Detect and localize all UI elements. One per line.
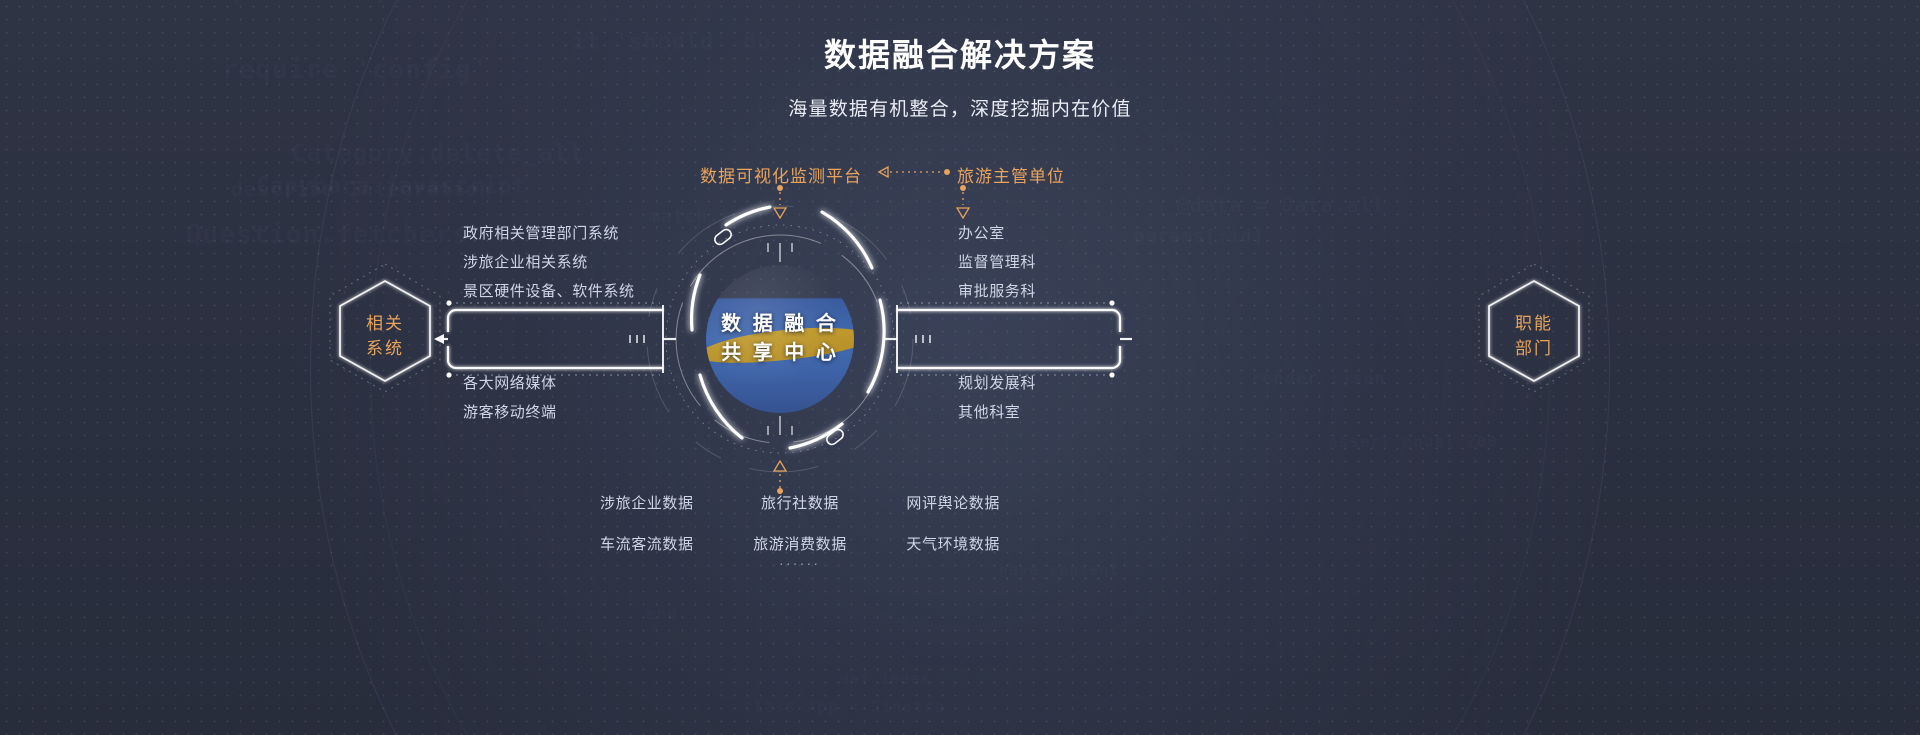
tag-row: 涉旅企业数据 旅行社数据 网评舆论数据 <box>600 492 1000 513</box>
left-sources-bottom-list: 各大网络媒体 游客移动终端 <box>463 376 557 434</box>
right-bus-upper-branch <box>897 310 1120 332</box>
list-item: 游客移动终端 <box>463 405 557 420</box>
viz-drop-triangle <box>774 208 786 218</box>
node-functional-departments[interactable]: 职能 部门 <box>1481 278 1587 396</box>
node-functional-departments-label: 职能 部门 <box>1481 278 1587 396</box>
bottom-orange-connector <box>774 461 786 494</box>
node-related-systems-label: 相关 系统 <box>332 278 438 396</box>
center-hub-line2: 共 享 中 心 <box>706 339 854 368</box>
node-related-systems-line2: 系统 <box>366 337 404 362</box>
ring-pod-upper-left <box>713 228 733 247</box>
center-hub-label: 数 据 融 合 共 享 中 心 <box>706 310 854 368</box>
right-departments-bottom-list: 规划发展科 其他科室 <box>958 376 1036 434</box>
top-left-arrowhead <box>879 167 888 177</box>
right-bus-ticks <box>916 335 930 343</box>
data-tag: 旅游消费数据 <box>753 533 847 554</box>
data-tag: 天气环境数据 <box>906 533 1000 554</box>
list-item: 其他科室 <box>958 405 1036 420</box>
list-item: 监督管理科 <box>958 255 1036 270</box>
node-related-systems[interactable]: 相关 系统 <box>332 278 438 396</box>
page-title: 数据融合解决方案 <box>0 36 1920 74</box>
center-hub-line1: 数 据 融 合 <box>706 310 854 339</box>
ring-stem-top <box>768 243 792 262</box>
list-item: 政府相关管理部门系统 <box>463 226 635 241</box>
data-tag: 涉旅企业数据 <box>600 492 694 513</box>
list-item: 景区硬件设备、软件系统 <box>463 284 635 299</box>
node-functional-departments-line2: 部门 <box>1515 337 1553 362</box>
node-functional-departments-line1: 职能 <box>1515 312 1553 337</box>
left-bus-ticks <box>630 335 644 343</box>
left-sources-top-list: 政府相关管理部门系统 涉旅企业相关系统 景区硬件设备、软件系统 <box>463 226 635 313</box>
center-hub[interactable]: 数 据 融 合 共 享 中 心 <box>706 265 854 413</box>
label-governing-unit[interactable]: 旅游主管单位 <box>957 162 1065 187</box>
list-item: 涉旅企业相关系统 <box>463 255 635 270</box>
node-related-systems-line1: 相关 <box>366 312 404 337</box>
ring-pod-lower-right <box>825 428 845 447</box>
org-drop-triangle <box>957 208 969 218</box>
data-tag: 网评舆论数据 <box>906 492 1000 513</box>
right-feed-dot-bottom <box>1109 372 1114 377</box>
bottom-up-triangle <box>774 461 786 471</box>
list-item: 办公室 <box>958 226 1036 241</box>
right-bus-lower-branch <box>897 346 1120 368</box>
ring-arc-right-lower <box>868 300 884 392</box>
list-item: 规划发展科 <box>958 376 1036 391</box>
ring-arc-left-upper <box>692 275 700 330</box>
data-tag: 旅行社数据 <box>761 492 839 513</box>
data-tag: 车流客流数据 <box>600 533 694 554</box>
left-feed-dot-bottom <box>446 372 451 377</box>
label-visualization-platform[interactable]: 数据可视化监测平台 <box>700 162 862 187</box>
page-subtitle: 海量数据有机整合，深度挖掘内在价值 <box>0 94 1920 121</box>
ring-arc-top-left <box>726 207 770 225</box>
ring-arc-bottom-right <box>790 424 842 448</box>
left-bus-upper-branch <box>448 310 663 332</box>
top-right-dot <box>944 169 950 175</box>
list-item: 各大网络媒体 <box>463 376 557 391</box>
ring-arc-top-right <box>822 212 872 268</box>
right-feed-dot-top <box>1109 300 1114 305</box>
bottom-ellipsis: ...... <box>600 552 1000 568</box>
tag-row: 车流客流数据 旅游消费数据 天气环境数据 <box>600 533 1000 554</box>
left-bus-lower-branch <box>448 346 663 368</box>
ring-stem-bottom <box>768 416 792 435</box>
list-item: 审批服务科 <box>958 284 1036 299</box>
page-header: 数据融合解决方案 海量数据有机整合，深度挖掘内在价值 <box>0 36 1920 121</box>
left-feed-dot-top <box>446 300 451 305</box>
right-departments-top-list: 办公室 监督管理科 审批服务科 <box>958 226 1036 313</box>
